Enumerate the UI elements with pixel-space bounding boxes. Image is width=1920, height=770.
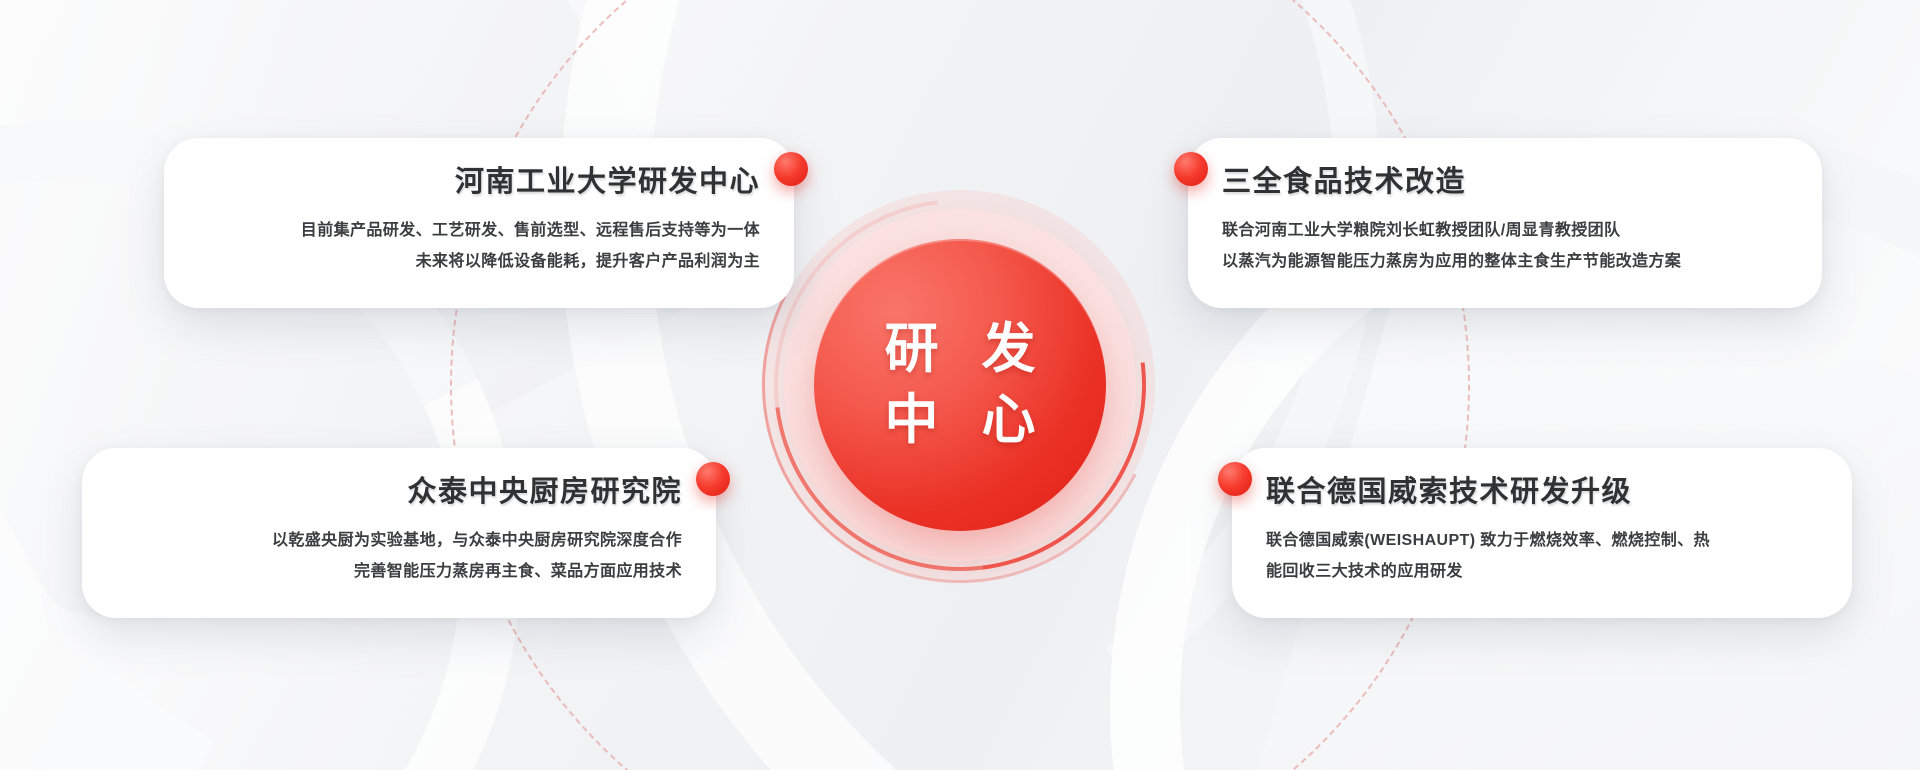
background-swoosh-3 — [476, 0, 1920, 770]
card-description: 联合河南工业大学粮院刘长虹教授团队/周显青教授团队 以蒸汽为能源智能压力蒸房为应… — [1222, 216, 1788, 277]
card-henan-university-rd-center[interactable]: 河南工业大学研发中心 目前集产品研发、工艺研发、售前选型、远程售后支持等为一体 … — [164, 138, 794, 308]
center-label-line-2: 中 心 — [870, 385, 1049, 456]
card-description: 目前集产品研发、工艺研发、售前选型、远程售后支持等为一体 未来将以降低设备能耗，… — [198, 216, 760, 277]
center-label-line-1: 研 发 — [870, 314, 1049, 385]
center-core-circle: 研 发 中 心 — [814, 239, 1106, 531]
red-dot-icon — [1218, 462, 1252, 496]
card-zhongtai-central-kitchen-institute[interactable]: 众泰中央厨房研究院 以乾盛央厨为实验基地，与众泰中央厨房研究院深度合作 完善智能… — [82, 448, 716, 618]
card-title: 三全食品技术改造 — [1222, 164, 1788, 200]
background-swoosh-4 — [0, 0, 647, 770]
card-description-line: 目前集产品研发、工艺研发、售前选型、远程售后支持等为一体 — [198, 216, 760, 247]
card-title: 联合德国威索技术研发升级 — [1266, 474, 1818, 510]
card-description: 以乾盛央厨为实验基地，与众泰中央厨房研究院深度合作 完善智能压力蒸房再主食、菜品… — [116, 526, 682, 587]
card-description-line: 能回收三大技术的应用研发 — [1266, 557, 1818, 588]
card-description-line: 以乾盛央厨为实验基地，与众泰中央厨房研究院深度合作 — [116, 526, 682, 557]
card-description-line: 完善智能压力蒸房再主食、菜品方面应用技术 — [116, 557, 682, 588]
card-sanquan-food-tech-upgrade[interactable]: 三全食品技术改造 联合河南工业大学粮院刘长虹教授团队/周显青教授团队 以蒸汽为能… — [1188, 138, 1822, 308]
card-weishaupt-joint-rd-upgrade[interactable]: 联合德国威索技术研发升级 联合德国威索(WEISHAUPT) 致力于燃烧效率、燃… — [1232, 448, 1852, 618]
red-dot-icon — [1174, 152, 1208, 186]
red-dot-icon — [696, 462, 730, 496]
background-swoosh-1 — [0, 0, 1448, 770]
card-description-line: 联合河南工业大学粮院刘长虹教授团队/周显青教授团队 — [1222, 216, 1788, 247]
card-description-line: 未来将以降低设备能耗，提升客户产品利润为主 — [198, 247, 760, 278]
card-title: 众泰中央厨房研究院 — [116, 474, 682, 510]
red-dot-icon — [774, 152, 808, 186]
card-title: 河南工业大学研发中心 — [198, 164, 760, 200]
card-description-line: 联合德国威索(WEISHAUPT) 致力于燃烧效率、燃烧控制、热 — [1266, 526, 1818, 557]
rd-center-infographic: 研 发 中 心 河南工业大学研发中心 目前集产品研发、工艺研发、售前选型、远程售… — [0, 0, 1920, 770]
card-description: 联合德国威索(WEISHAUPT) 致力于燃烧效率、燃烧控制、热 能回收三大技术… — [1266, 526, 1818, 587]
center-emblem: 研 发 中 心 — [750, 175, 1170, 595]
card-description-line: 以蒸汽为能源智能压力蒸房为应用的整体主食生产节能改造方案 — [1222, 247, 1788, 278]
